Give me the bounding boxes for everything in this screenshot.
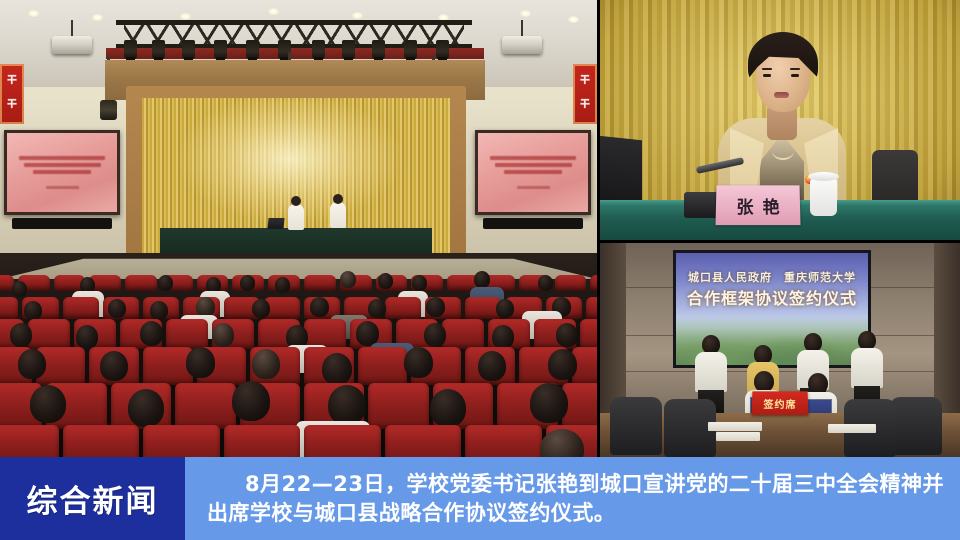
audience-head [328,385,366,425]
audience-head [186,347,215,378]
ceiling-downlight [92,14,103,21]
audience-head [240,275,255,291]
screen-text-line [19,156,105,160]
category-tag: 综合新闻 [0,457,185,540]
speaker-eyebrow [762,68,772,70]
projection-screen-right-content [478,133,588,212]
ceiling-downlight [568,16,579,23]
screen-soundbar-left [12,218,112,229]
seat [143,425,220,457]
projection-screen-left-content [7,133,117,212]
presenter-laptop [267,218,284,229]
audience-head [310,297,329,317]
caption-text-block: 8月22—23日，学校党委书记张艳到城口宣讲党的二十届三中全会精神并 出席学校与… [185,457,960,540]
photo-auditorium [0,0,597,457]
ceiling-projector [502,36,542,54]
caption-line-2: 出席学校与城口县战略合作协议签约仪式。 [207,499,944,527]
speaker-eye [763,74,771,77]
seat [175,383,235,429]
hanging-speaker [100,100,117,120]
audience-head [24,301,42,320]
caption-bar: 综合新闻 8月22—23日，学校党委书记张艳到城口宣讲党的二十届三中全会精神并 … [0,457,960,540]
banner-glyph-icon [580,98,591,109]
screen-text-line [495,163,572,167]
seat [368,383,428,429]
photo-signing-ceremony: 城口县人民政府 重庆师范大学 合作框架协议签约仪式 [600,243,960,457]
caption-line-1: 8月22—23日，学校党委书记张艳到城口宣讲党的二十届三中全会精神并 [207,470,944,498]
stage-spotlight [404,40,417,59]
seat [358,347,408,385]
ceiling-downlight [28,10,39,17]
ceiling-downlight [268,8,279,15]
seat [63,297,99,319]
standing-attendee [848,331,886,407]
seat [63,425,140,457]
photo-grid: 张艳 城口县人民政府 重庆师范大学 合作框架协议签约仪式 [0,0,960,457]
office-chair [610,397,662,455]
audience-head [538,275,553,291]
ceiling-downlight [180,13,191,20]
speaker-eye [791,74,799,77]
seat [442,319,484,349]
screen-text-line [504,170,561,174]
audience-head [530,383,568,423]
attendee-torso [851,348,883,388]
speaker-nameplate: 张艳 [716,185,801,225]
stage-spotlight [436,40,449,59]
stage-spotlight [124,40,137,59]
audience-head [252,299,270,318]
audience-head [474,271,490,288]
wall-banner-right [573,64,597,124]
presenter-figure [330,202,346,228]
audience-head [12,281,27,297]
screen-text-line [46,186,79,189]
seat [385,425,462,457]
audience-head [252,349,280,379]
seat [166,319,208,349]
ceiling-downlight [520,10,531,17]
banner-glyph-icon [7,74,18,85]
audience-head [492,325,514,349]
seat [586,297,597,319]
wall-banner-left [0,64,24,124]
seat [555,275,587,291]
screen-text-line [517,186,550,189]
news-graphic: 张艳 城口县人民政府 重庆师范大学 合作框架协议签约仪式 [0,0,960,540]
audience-head [404,347,433,378]
office-chair [890,397,942,455]
photo-speaker: 张艳 [600,0,960,240]
ceremony-screen-line2: 合作框架协议签约仪式 [676,285,868,309]
audience-head [196,297,215,317]
ceiling-projector [52,36,92,54]
seat [304,275,336,291]
seat-row [0,425,597,457]
audience-head [368,299,386,318]
audience-head [548,349,577,380]
screen-text-line [490,156,576,160]
audience-head [478,351,506,381]
audience-head [18,349,46,379]
seat [590,275,597,291]
audience-head [150,301,168,320]
projection-screen-right [475,130,591,215]
audience-head [340,271,356,288]
projection-screen-left [4,130,120,215]
stage-spotlight [342,40,355,59]
seat [0,425,59,457]
audience-head [275,277,290,293]
seat [125,275,157,291]
speaker-mouth [774,92,789,98]
teacup [810,178,837,216]
attendee-torso [695,352,727,392]
seat [304,425,381,457]
seat [385,297,421,319]
audience-head [496,299,514,318]
screen-text-line [24,163,101,167]
audience-head [378,273,393,289]
category-tag-label: 综合新闻 [26,476,158,521]
document-stack [708,422,762,431]
audience-head [100,351,128,381]
screen-soundbar-right [483,218,583,229]
audience-head [322,353,352,385]
ceiling-downlight [352,12,363,19]
signatory-head [808,373,828,394]
stage-spotlight [246,40,259,59]
seat [0,297,18,319]
audience-head [158,275,173,291]
document-stack [828,424,876,433]
stage-spotlight [372,40,385,59]
stage-spotlight [312,40,325,59]
stage-spotlight [214,40,227,59]
speaker-eyebrow [790,68,800,70]
audience-area [0,253,597,457]
seat [580,319,597,349]
audience-head [108,299,126,318]
speaker-necklace [772,142,794,160]
stage-spotlight [152,40,165,59]
seat [465,425,542,457]
audience-head [128,389,164,427]
banner-glyph-icon [580,74,591,85]
seat [224,425,301,457]
banner-glyph-icon [7,98,18,109]
document-stack [716,432,760,441]
audience-head [424,323,446,347]
audience-head [30,385,66,423]
audience-head [140,321,163,346]
audience-head [556,323,578,347]
signatory-head [754,371,774,392]
stage-spotlight [182,40,195,59]
audience-head [212,323,234,347]
microphone-base [684,192,718,218]
audience-head [76,325,98,349]
audience-head [10,323,32,347]
audience-head [232,381,270,421]
audience-head [430,389,466,427]
audience-head [412,275,427,291]
seat-row [0,347,597,385]
presenter-figure [288,204,304,230]
signing-placard: 签约席 [752,391,809,415]
audience-head [426,297,445,317]
ceremony-screen-line1: 城口县人民政府 重庆师范大学 [676,269,868,285]
seat [28,319,70,349]
screen-text-line [33,170,90,174]
